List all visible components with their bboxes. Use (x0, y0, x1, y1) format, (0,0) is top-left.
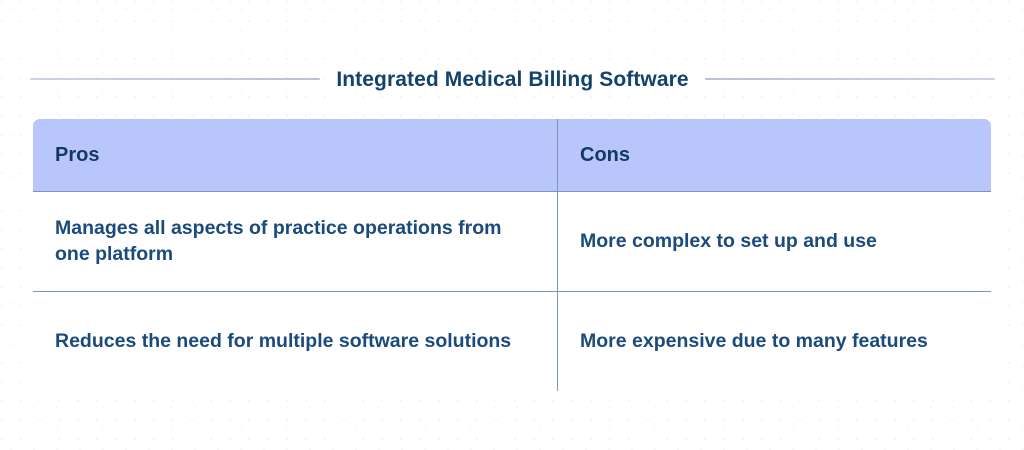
cell-cons-2: More expensive due to many features (558, 292, 992, 392)
cell-text: More expensive due to many features (580, 329, 969, 355)
cell-pros-1: Manages all aspects of practice operatio… (33, 192, 558, 292)
page-canvas: Integrated Medical Billing Software Pros… (0, 0, 1024, 450)
cell-text: Reduces the need for multiple software s… (55, 329, 535, 355)
table-body: Manages all aspects of practice operatio… (33, 192, 992, 392)
title-rule-left (30, 78, 320, 80)
table-row: Manages all aspects of practice operatio… (33, 192, 992, 292)
column-header-cons: Cons (558, 119, 992, 192)
table-header: Pros Cons (33, 119, 992, 192)
comparison-table-container: Pros Cons Manages all aspects of practic… (32, 118, 992, 392)
cell-pros-2: Reduces the need for multiple software s… (33, 292, 558, 392)
table-row: Reduces the need for multiple software s… (33, 292, 992, 392)
table-header-row: Pros Cons (33, 119, 992, 192)
cell-cons-1: More complex to set up and use (558, 192, 992, 292)
pros-cons-comparison-table: Pros Cons Manages all aspects of practic… (32, 118, 992, 392)
cell-text: More complex to set up and use (580, 229, 969, 255)
page-title: Integrated Medical Billing Software (336, 69, 688, 90)
section-title-band: Integrated Medical Billing Software (30, 62, 995, 96)
title-rule-right (705, 78, 995, 80)
column-header-pros: Pros (33, 119, 558, 192)
cell-text: Manages all aspects of practice operatio… (55, 216, 535, 268)
